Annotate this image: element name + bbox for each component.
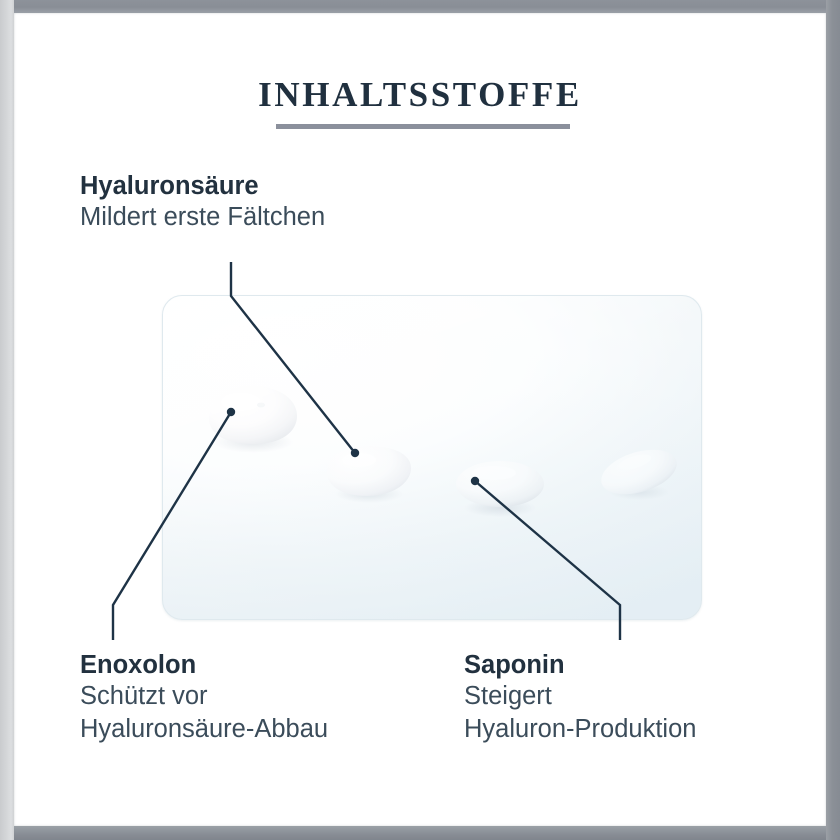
leader-line-saponin: [475, 481, 620, 640]
callout-hyaluronsaeure: Hyaluronsäure Mildert erste Fältchen: [80, 171, 325, 234]
callout-desc-line2-enoxolon: Hyaluronsäure-Abbau: [80, 713, 328, 746]
callout-title-hyaluronsaeure: Hyaluronsäure: [80, 171, 325, 201]
frame-edge-left: [0, 0, 14, 840]
content-area: INHALTSSTOFFE: [14, 13, 826, 826]
frame-edge-bottom: [0, 826, 840, 840]
leader-dot-saponin: [471, 477, 479, 485]
callout-desc-hyaluronsaeure: Mildert erste Fältchen: [80, 201, 325, 234]
callout-desc-line2-saponin: Hyaluron-Produktion: [464, 713, 696, 746]
callout-desc-line1-saponin: Steigert: [464, 682, 552, 710]
callout-desc-enoxolon: Schützt vor Hyaluronsäure-Abbau: [80, 680, 328, 746]
callout-desc-saponin: Steigert Hyaluron-Produktion: [464, 680, 696, 746]
callout-desc-line1-enoxolon: Schützt vor: [80, 682, 208, 710]
callout-title-enoxolon: Enoxolon: [80, 650, 328, 680]
ingredients-infographic: INHALTSSTOFFE: [0, 0, 840, 840]
callout-title-saponin: Saponin: [464, 650, 696, 680]
frame-edge-right: [826, 0, 840, 840]
callout-desc-line1-hyaluronsaeure: Mildert erste Fältchen: [80, 203, 325, 231]
leader-line-enoxolon: [113, 412, 231, 640]
leader-dot-enoxolon: [227, 408, 235, 416]
callout-saponin: Saponin Steigert Hyaluron-Produktion: [464, 650, 696, 746]
leader-line-hyaluronsaeure: [231, 262, 355, 453]
frame-edge-top: [0, 0, 840, 13]
leader-dot-hyaluronsaeure: [351, 449, 359, 457]
callout-enoxolon: Enoxolon Schützt vor Hyaluronsäure-Abbau: [80, 650, 328, 746]
